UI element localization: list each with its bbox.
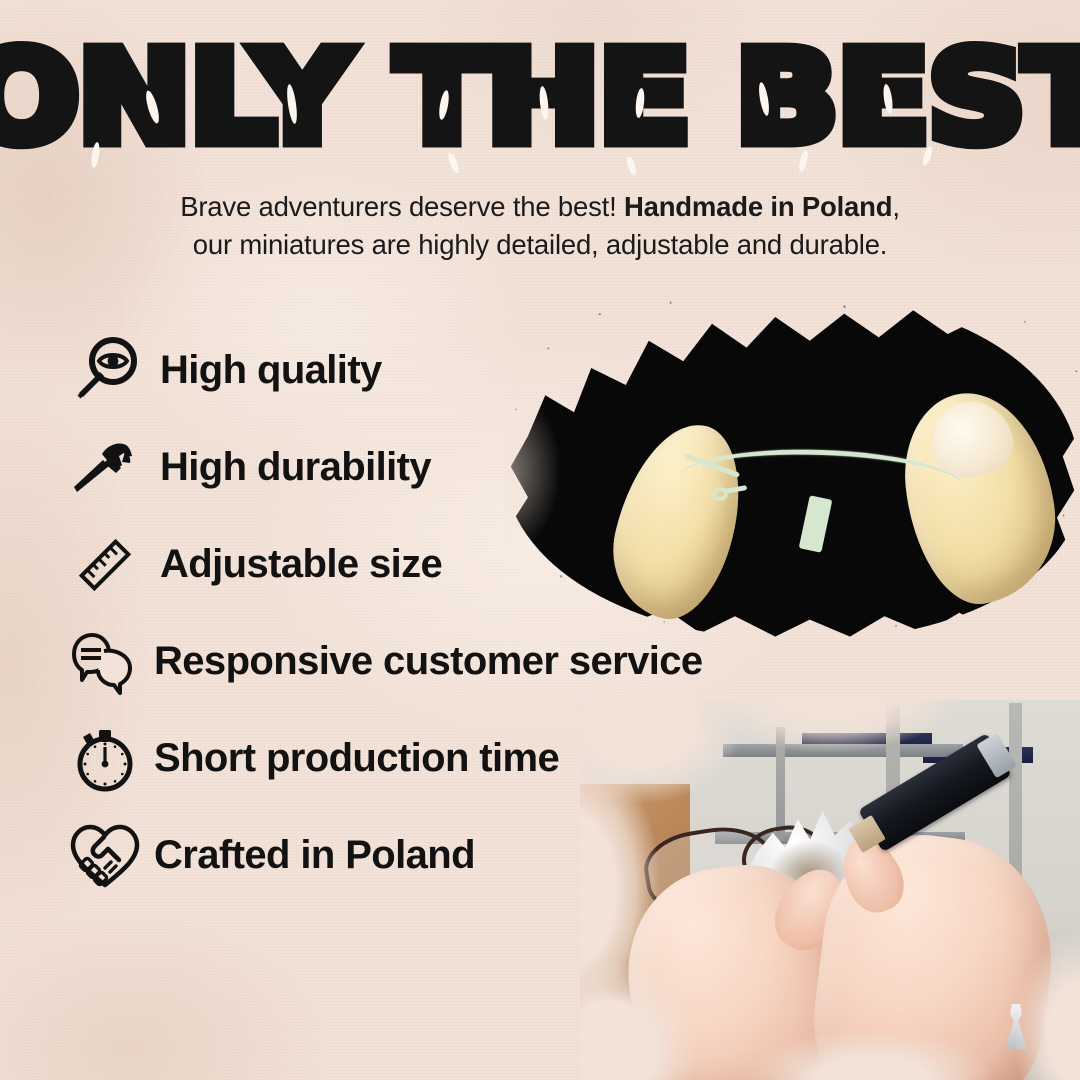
stopwatch-icon <box>62 716 148 802</box>
miniature-bow-eyelet <box>712 487 728 501</box>
feature-label: High quality <box>160 348 382 393</box>
feature-label: High durability <box>160 445 431 490</box>
feature-label: Crafted in Poland <box>154 833 475 878</box>
subtitle-line-1-tail: , <box>892 191 899 222</box>
subtitle: Brave adventurers deserve the best! Hand… <box>0 188 1080 264</box>
page-title: ONLY THE BEST <box>0 38 1080 159</box>
ruler-icon <box>62 522 148 608</box>
workshop-painting-photo <box>580 700 1080 1080</box>
promo-banner: ONLY THE BEST Brave adventurers deserve … <box>0 0 1080 1080</box>
subtitle-line-1-normal: Brave adventurers deserve the best! <box>180 191 624 222</box>
feature-label: Adjustable size <box>160 542 442 587</box>
handshake-heart-icon <box>62 813 148 899</box>
subtitle-line-2: our miniatures are highly detailed, adju… <box>0 226 1080 264</box>
feature-label: Responsive customer service <box>154 639 703 684</box>
headline-container: ONLY THE BEST <box>0 38 1080 159</box>
magnifier-eye-icon <box>62 328 148 414</box>
hammer-icon <box>62 425 148 511</box>
subtitle-line-1-bold: Handmade in Poland <box>624 191 892 222</box>
subtitle-line-1: Brave adventurers deserve the best! Hand… <box>0 188 1080 226</box>
speech-bubbles-icon <box>62 619 148 705</box>
feature-label: Short production time <box>154 736 559 781</box>
miniature-bow-closeup-photo <box>505 300 1080 640</box>
